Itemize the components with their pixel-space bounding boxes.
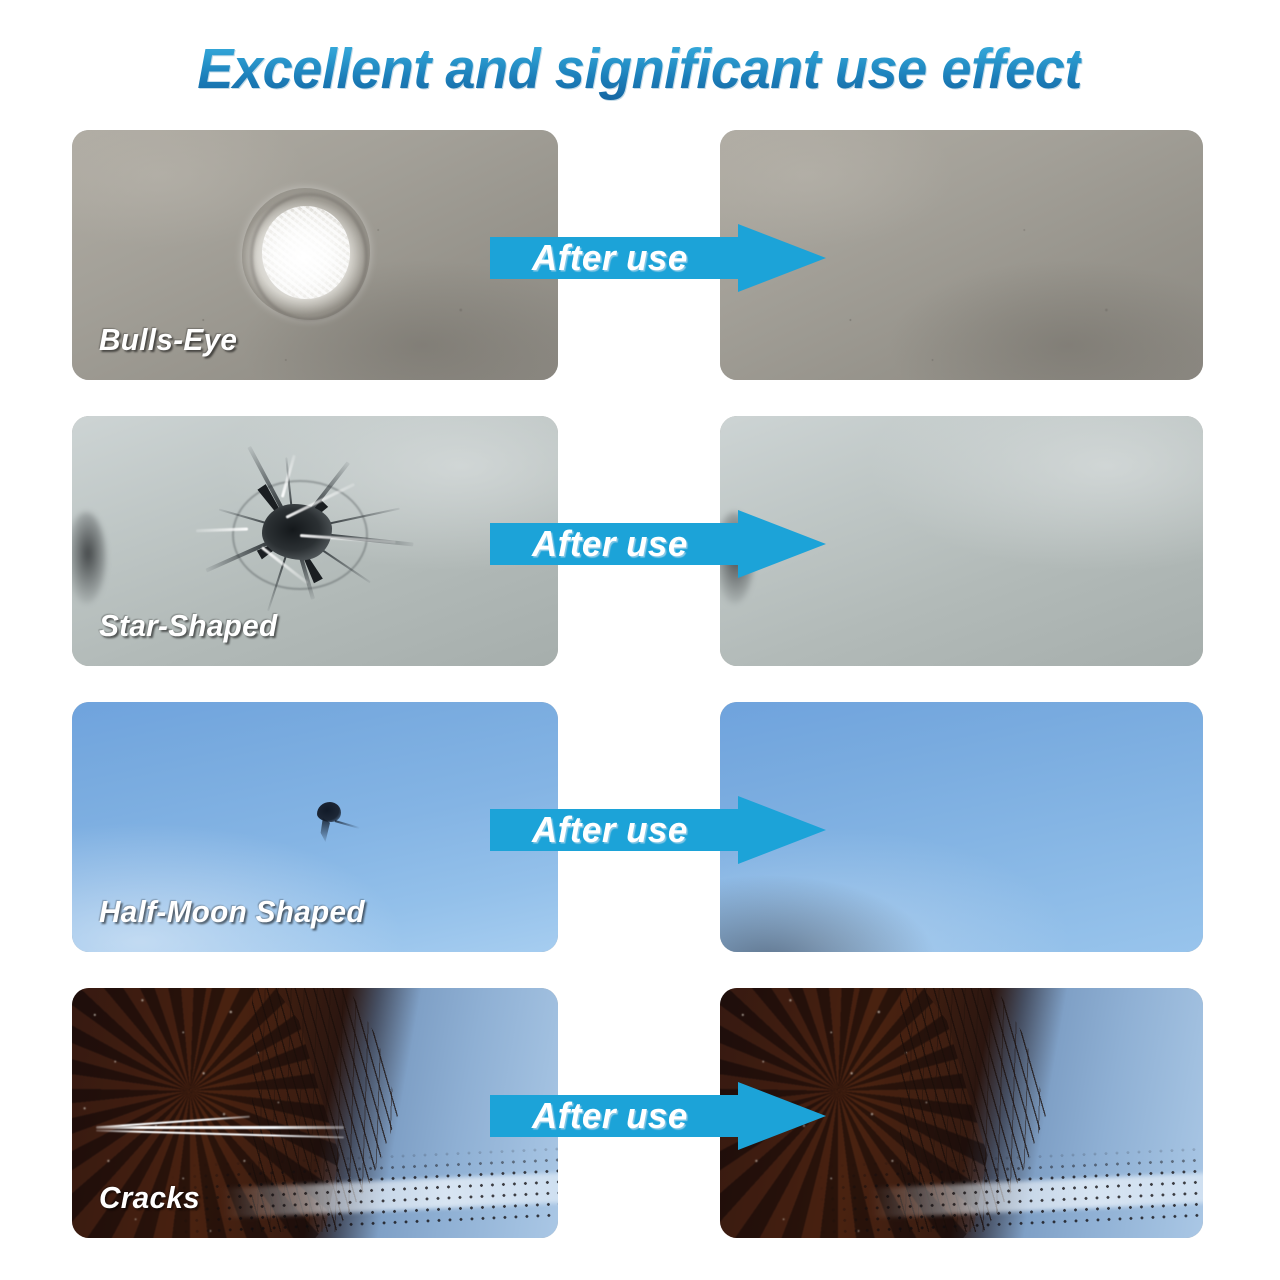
- before-panel-half-moon: Half-Moon Shaped: [72, 702, 558, 952]
- before-panel-bulls-eye: Bulls-Eye: [72, 130, 558, 380]
- after-use-label-row-3: After use: [532, 796, 688, 864]
- comparison-row-bulls-eye: Bulls-Eye After use: [0, 130, 1280, 380]
- comparison-row-star-shaped: Star-Shaped After use: [0, 416, 1280, 666]
- comparison-row-cracks: Cracks After use: [0, 988, 1280, 1238]
- panel-label-cracks: Cracks: [99, 1180, 200, 1216]
- after-use-arrow-row-4: After use: [490, 1082, 826, 1150]
- after-use-label-row-2: After use: [532, 510, 688, 578]
- comparison-row-half-moon: Half-Moon Shaped After use: [0, 702, 1280, 952]
- after-use-label-row-4: After use: [532, 1082, 688, 1150]
- before-panel-cracks: Cracks: [72, 988, 558, 1238]
- damage-bullseye-chip: [242, 188, 370, 320]
- before-panel-star-shaped: Star-Shaped: [72, 416, 558, 666]
- page-title: Excellent and significant use effect: [198, 36, 1083, 102]
- panel-label-half-moon: Half-Moon Shaped: [99, 894, 365, 930]
- after-use-arrow-row-3: After use: [490, 796, 826, 864]
- after-use-label-row-1: After use: [532, 224, 688, 292]
- damage-half-moon-chip: [309, 800, 353, 846]
- after-use-arrow-row-1: After use: [490, 224, 826, 292]
- damage-star-crack: [190, 430, 450, 620]
- damage-long-crack: [96, 1120, 344, 1138]
- panel-label-star-shaped: Star-Shaped: [99, 608, 277, 644]
- after-use-arrow-row-2: After use: [490, 510, 826, 578]
- page-header: Excellent and significant use effect: [0, 36, 1280, 102]
- panel-label-bulls-eye: Bulls-Eye: [99, 322, 237, 358]
